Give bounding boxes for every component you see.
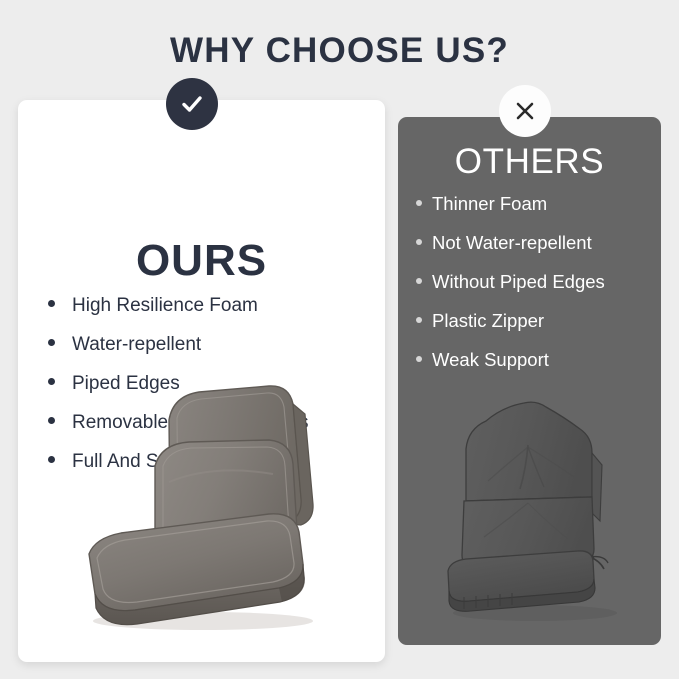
feature-label: Without Piped Edges bbox=[432, 273, 605, 292]
bullet-icon bbox=[416, 200, 422, 206]
bullet-icon bbox=[48, 339, 55, 346]
page-title: WHY CHOOSE US? bbox=[0, 31, 679, 71]
check-icon bbox=[178, 90, 206, 118]
list-item: Plastic Zipper bbox=[416, 312, 661, 351]
feature-label: High Resilience Foam bbox=[72, 296, 258, 315]
comparison-infographic: WHY CHOOSE US? OURS High Resilience Foam… bbox=[0, 0, 679, 679]
bullet-icon bbox=[416, 356, 422, 362]
bullet-icon bbox=[416, 317, 422, 323]
ours-heading: OURS bbox=[18, 236, 385, 286]
bullet-icon bbox=[48, 378, 55, 385]
others-product-image bbox=[440, 385, 630, 627]
feature-label: Not Water-repellent bbox=[432, 234, 592, 253]
bullet-icon bbox=[48, 456, 55, 463]
others-close-badge bbox=[499, 85, 551, 137]
bullet-icon bbox=[416, 239, 422, 245]
bullet-icon bbox=[416, 278, 422, 284]
close-icon bbox=[512, 98, 538, 124]
feature-label: Weak Support bbox=[432, 351, 549, 370]
ours-check-badge bbox=[166, 78, 218, 130]
others-heading: OTHERS bbox=[398, 142, 661, 182]
list-item: Thinner Foam bbox=[416, 195, 661, 234]
feature-label: Water-repellent bbox=[72, 335, 201, 354]
feature-label: Plastic Zipper bbox=[432, 312, 544, 331]
bullet-icon bbox=[48, 300, 55, 307]
list-item: High Resilience Foam bbox=[48, 296, 385, 335]
feature-label: Thinner Foam bbox=[432, 195, 547, 214]
ours-panel: OURS High Resilience Foam Water-repellen… bbox=[18, 100, 385, 662]
others-feature-list: Thinner Foam Not Water-repellent Without… bbox=[416, 195, 661, 390]
list-item: Not Water-repellent bbox=[416, 234, 661, 273]
list-item: Water-repellent bbox=[48, 335, 385, 374]
ours-product-image bbox=[73, 378, 343, 636]
others-panel: OTHERS Thinner Foam Not Water-repellent … bbox=[398, 117, 661, 645]
list-item: Without Piped Edges bbox=[416, 273, 661, 312]
bullet-icon bbox=[48, 417, 55, 424]
